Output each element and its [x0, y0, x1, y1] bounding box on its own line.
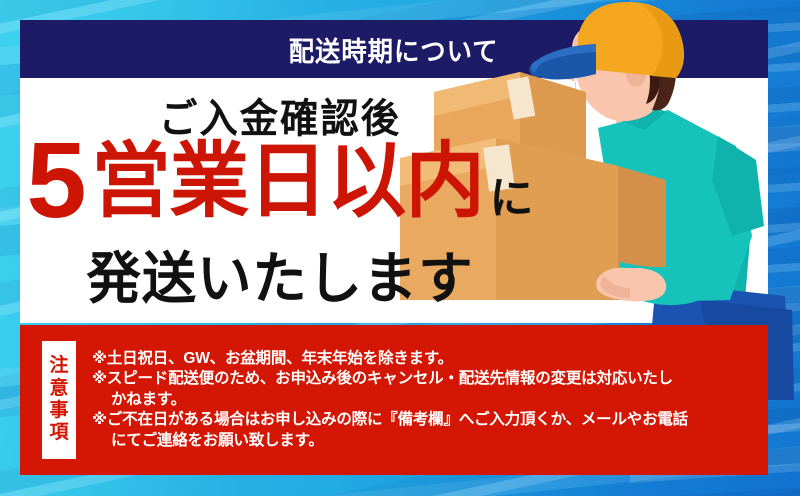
notice-item-3-marker: ※: [92, 411, 107, 428]
notice-item-1-text: 土日祝日、GW、お盆期間、年末年始を除きます。: [107, 350, 453, 367]
notice-tag-char-3: 事: [49, 400, 68, 422]
notice-item-2-text: スピード配送便のため、お申込み後のキャンセル・配送先情報の変更は対応いたし: [107, 370, 673, 387]
notice-tag-char-1: 注: [49, 355, 68, 377]
notice-text-body: ※土日祝日、GW、お盆期間、年末年始を除きます。 ※スピード配送便のため、お申込…: [92, 349, 754, 451]
notice-item-2-continuation: かねます。: [92, 390, 754, 410]
notice-item-3-text: ご不在日がある場合はお申し込みの際に『備考欄』へご入力頂くか、メールやお電話: [107, 411, 688, 428]
notice-item-2-marker: ※: [92, 370, 107, 387]
lower-box-right: [496, 138, 618, 300]
notice-tag-char-2: 意: [49, 378, 68, 400]
notice-box: 注 意 事 項 ※土日祝日、GW、お盆期間、年末年始を除きます。 ※スピード配送…: [20, 325, 768, 475]
notice-item-1-marker: ※: [92, 350, 107, 367]
notice-item-1: ※土日祝日、GW、お盆期間、年末年始を除きます。: [92, 349, 754, 369]
notice-tag-label: 注 意 事 項: [42, 341, 76, 459]
notice-item-3-continuation: にてご連絡をお願い致します。: [92, 431, 754, 451]
notice-item-2: ※スピード配送便のため、お申込み後のキャンセル・配送先情報の変更は対応いたし か…: [92, 369, 754, 410]
notice-item-3: ※ご不在日がある場合はお申し込みの際に『備考欄』へご入力頂くか、メールやお電話 …: [92, 410, 754, 451]
shipping-notice-banner: 配送時期について: [0, 0, 800, 496]
notice-tag-char-4: 項: [49, 422, 68, 444]
